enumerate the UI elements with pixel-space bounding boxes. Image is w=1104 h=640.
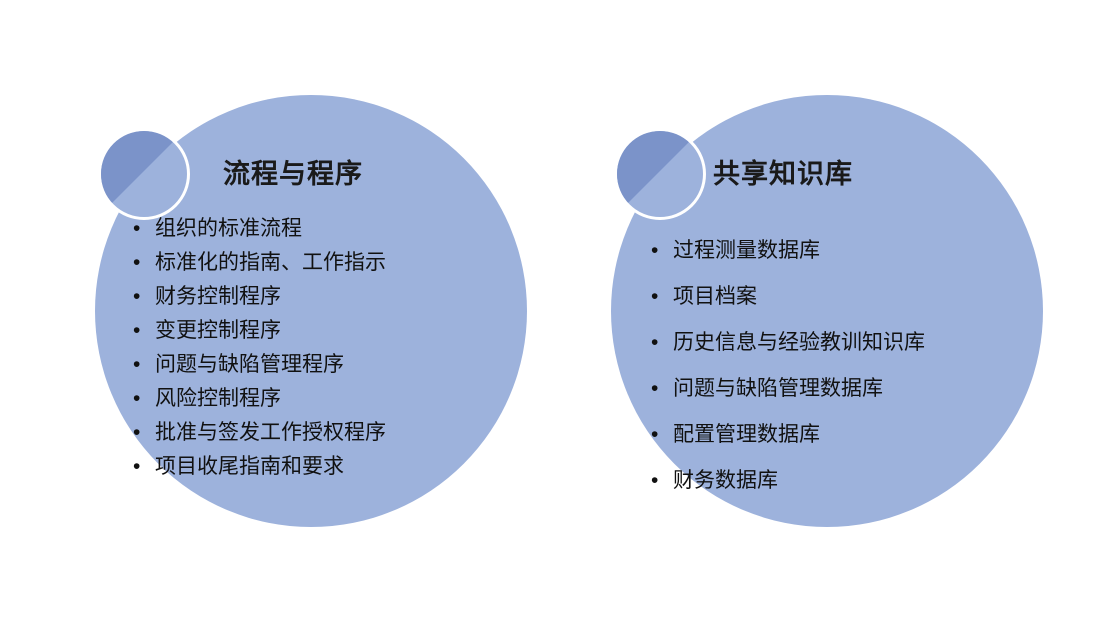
list-item-label: 历史信息与经验教训知识库 bbox=[673, 332, 925, 353]
group-a-bullet-list: • 组织的标准流程 • 标准化的指南、工作指示 • 财务控制程序 • 变更控制程… bbox=[133, 218, 386, 490]
bullet-dot-icon: • bbox=[133, 218, 155, 239]
bullet-dot-icon: • bbox=[133, 286, 155, 307]
group-b-small-circle bbox=[614, 128, 706, 220]
bullet-dot-icon: • bbox=[133, 252, 155, 273]
list-item-label: 项目收尾指南和要求 bbox=[155, 456, 344, 477]
list-item-label: 过程测量数据库 bbox=[673, 240, 820, 261]
list-item: • 配置管理数据库 bbox=[651, 424, 925, 445]
bullet-dot-icon: • bbox=[133, 456, 155, 477]
list-item: • 历史信息与经验教训知识库 bbox=[651, 332, 925, 353]
list-item: • 项目收尾指南和要求 bbox=[133, 456, 386, 477]
list-item-label: 项目档案 bbox=[673, 286, 757, 307]
list-item: • 过程测量数据库 bbox=[651, 240, 925, 261]
bullet-dot-icon: • bbox=[651, 332, 673, 353]
list-item: • 变更控制程序 bbox=[133, 320, 386, 341]
bullet-dot-icon: • bbox=[133, 388, 155, 409]
bullet-dot-icon: • bbox=[133, 320, 155, 341]
list-item-label: 批准与签发工作授权程序 bbox=[155, 422, 386, 443]
list-item: • 问题与缺陷管理数据库 bbox=[651, 378, 925, 399]
slide-canvas: 流程与程序 • 组织的标准流程 • 标准化的指南、工作指示 • 财务控制程序 •… bbox=[0, 0, 1104, 640]
list-item-label: 财务数据库 bbox=[673, 470, 778, 491]
list-item-label: 标准化的指南、工作指示 bbox=[155, 252, 386, 273]
list-item-label: 问题与缺陷管理程序 bbox=[155, 354, 344, 375]
list-item: • 批准与签发工作授权程序 bbox=[133, 422, 386, 443]
list-item: • 财务控制程序 bbox=[133, 286, 386, 307]
list-item-label: 风险控制程序 bbox=[155, 388, 281, 409]
list-item-label: 配置管理数据库 bbox=[673, 424, 820, 445]
bullet-dot-icon: • bbox=[651, 378, 673, 399]
list-item-label: 财务控制程序 bbox=[155, 286, 281, 307]
bullet-dot-icon: • bbox=[133, 354, 155, 375]
list-item-label: 变更控制程序 bbox=[155, 320, 281, 341]
group-b-title: 共享知识库 bbox=[713, 152, 853, 191]
bullet-dot-icon: • bbox=[651, 424, 673, 445]
list-item: • 风险控制程序 bbox=[133, 388, 386, 409]
group-a-small-circle-shade bbox=[101, 131, 187, 217]
list-item-label: 组织的标准流程 bbox=[155, 218, 302, 239]
group-b-bullet-list: • 过程测量数据库 • 项目档案 • 历史信息与经验教训知识库 • 问题与缺陷管… bbox=[651, 240, 925, 516]
bullet-dot-icon: • bbox=[651, 240, 673, 261]
bullet-dot-icon: • bbox=[651, 470, 673, 491]
list-item: • 问题与缺陷管理程序 bbox=[133, 354, 386, 375]
group-b-small-circle-shade bbox=[617, 131, 703, 217]
group-a-small-circle bbox=[98, 128, 190, 220]
group-a-title: 流程与程序 bbox=[223, 152, 363, 191]
bullet-dot-icon: • bbox=[133, 422, 155, 443]
bullet-dot-icon: • bbox=[651, 286, 673, 307]
list-item-label: 问题与缺陷管理数据库 bbox=[673, 378, 883, 399]
list-item: • 标准化的指南、工作指示 bbox=[133, 252, 386, 273]
list-item: • 财务数据库 bbox=[651, 470, 925, 491]
list-item: • 组织的标准流程 bbox=[133, 218, 386, 239]
list-item: • 项目档案 bbox=[651, 286, 925, 307]
